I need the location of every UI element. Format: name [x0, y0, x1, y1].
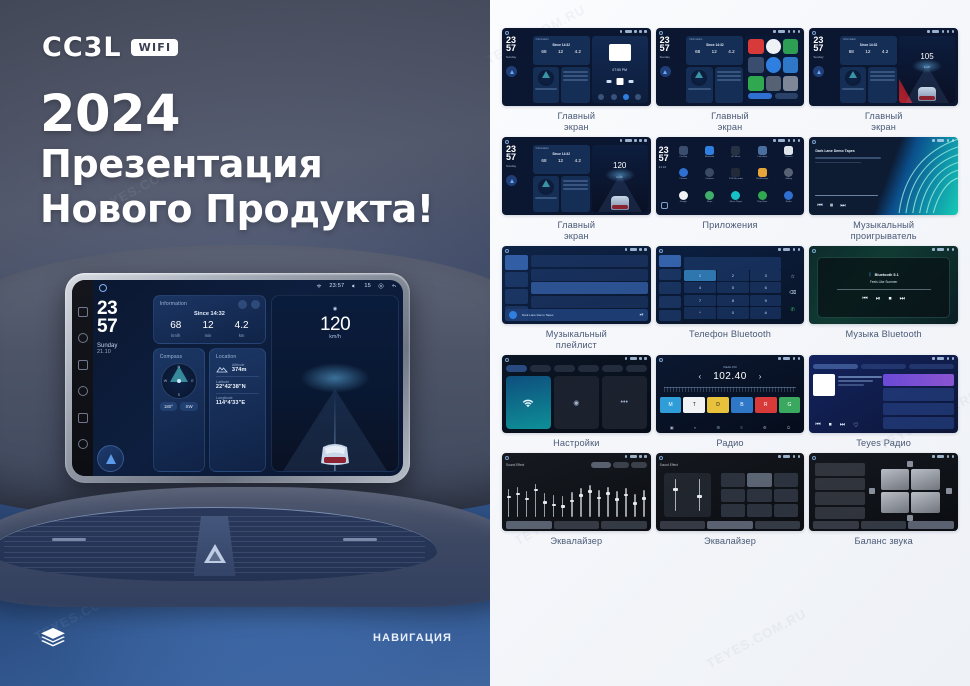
compass-card[interactable]: Compass N S E W [153, 348, 205, 472]
sidebar-item-contacts[interactable] [659, 269, 682, 281]
eq-slider[interactable] [562, 496, 563, 517]
phone-sidebar[interactable] [659, 255, 682, 321]
preset-button[interactable] [747, 489, 771, 502]
preset-controls[interactable] [591, 462, 647, 468]
wifi-card[interactable] [506, 376, 551, 429]
eq-slider[interactable] [607, 487, 608, 517]
sidebar-item-tracks[interactable] [505, 255, 528, 270]
tab-apps[interactable] [578, 365, 599, 372]
hardware-key-strip[interactable] [72, 280, 93, 476]
altitude-row: Altitude 374m [216, 363, 259, 373]
eq-slider[interactable] [643, 490, 644, 517]
equalizer-tabs[interactable] [813, 521, 954, 529]
eq-slider[interactable] [571, 492, 572, 517]
save-button[interactable] [631, 462, 647, 468]
backspace-icon[interactable]: ⌫ [789, 290, 796, 296]
thumbnail-teyes-radio[interactable]: ⏮ ⏹ ⏭ ♡ [809, 355, 958, 433]
list-item[interactable] [531, 282, 648, 294]
headline: 2024 Презентация Нового Продукта! [40, 88, 434, 231]
sidebar-item-keypad[interactable] [659, 255, 682, 267]
app-item[interactable]: Calculator [751, 146, 774, 166]
key-1[interactable]: 1 [684, 270, 715, 281]
list-item[interactable] [883, 417, 954, 429]
gallery-cell[interactable]: 23 57 21.10 CarPlay Bluetooth BT Music C… [656, 137, 805, 242]
key-0[interactable]: 0 [717, 307, 748, 318]
equalizer-sliders[interactable] [508, 469, 645, 517]
gallery-cell[interactable]: Sound Effect [656, 453, 805, 547]
gallery-cell[interactable]: 23 57 Sunday Information Since 14:32 68 [502, 137, 651, 242]
transport-controls[interactable]: ⏮ ⏹ ⏭ ♡ [813, 422, 881, 429]
eq-slider[interactable] [634, 494, 635, 517]
volume-icon[interactable] [351, 283, 357, 289]
speed-unit: km/h [616, 175, 623, 179]
sidebar-item-artists[interactable] [505, 272, 528, 287]
key-8[interactable]: 8 [717, 295, 748, 306]
location-card[interactable] [715, 67, 744, 103]
status-bar [620, 139, 647, 142]
thumbnail-equalizer-simple[interactable]: Sound Effect [656, 453, 805, 531]
app-item[interactable]: BT Music [724, 146, 747, 166]
status-bar [625, 357, 647, 360]
gallery-cell[interactable]: Radio FM ‹ 102.40 › M T D B R G [656, 355, 805, 449]
app-icon[interactable] [783, 76, 798, 91]
app-icon[interactable] [766, 39, 781, 54]
thumbnail-home-drive[interactable]: 23 57 Sunday Information Since 14:32 68 [809, 28, 958, 106]
stat-item: 12 min [202, 321, 213, 338]
list-item[interactable] [883, 403, 954, 415]
list-item[interactable] [531, 269, 648, 281]
information-card[interactable]: Information Since 14:32 68 12 4.2 [533, 145, 590, 174]
power-key-icon[interactable] [78, 333, 88, 343]
tab-display[interactable] [554, 365, 575, 372]
information-card[interactable]: Information Since 14:32 [153, 295, 266, 344]
information-actions [238, 300, 260, 309]
dock-button[interactable] [775, 93, 798, 99]
thumbnail-settings[interactable]: ◉ ••• [502, 355, 651, 433]
mini-player[interactable]: Dark Lane Demo Tapes ⏯ [505, 309, 648, 321]
home-key-icon[interactable] [78, 386, 88, 396]
tab-system[interactable] [602, 365, 623, 372]
tab-favorites[interactable] [909, 364, 954, 369]
preset-button[interactable] [774, 473, 798, 486]
widget-cards: Information Since 14:32 68 12 4.2 [533, 36, 590, 103]
preset-row[interactable]: M T D B R G [660, 397, 801, 413]
eq-slider[interactable] [589, 485, 590, 517]
app-item[interactable]: Gallery [777, 168, 800, 188]
drive-view-widget[interactable]: 105 km/h [899, 36, 955, 103]
expand-icon[interactable] [251, 300, 260, 309]
category-tabs[interactable] [813, 364, 954, 369]
stat-value: 12 [558, 49, 563, 54]
gallery-cell[interactable]: 23 57 Sunday Information Since 14:32 68 [656, 28, 805, 133]
sidebar-item-settings[interactable] [659, 310, 682, 322]
radio-toolbar[interactable]: ▣⌕ ☰≡ ⚙⏻ [660, 425, 801, 430]
reset-button[interactable] [613, 462, 629, 468]
eq-slider[interactable] [625, 488, 626, 518]
progress-bar[interactable] [837, 289, 931, 290]
preset-button[interactable] [747, 473, 771, 486]
thumbnail-sound-balance[interactable] [809, 453, 958, 531]
stop-icon[interactable]: ⏹ [889, 296, 892, 303]
next-icon[interactable]: ⏭ [900, 296, 905, 303]
tab-eq[interactable] [660, 521, 706, 529]
back-arrow-icon[interactable] [391, 283, 397, 289]
fader-panel[interactable] [664, 473, 712, 517]
information-card[interactable]: Information Since 14:32 68 12 4.2 [840, 36, 897, 65]
preset-row[interactable] [815, 463, 864, 476]
drive-view-widget[interactable]: ◉ 120 km/h [271, 295, 399, 472]
more-card[interactable]: ••• [602, 376, 647, 429]
station-list[interactable] [883, 374, 954, 429]
compass-dial: N S E W [161, 363, 197, 399]
app-item[interactable]: FileManager [751, 168, 774, 188]
sidebar-item-recents[interactable] [659, 296, 682, 308]
compass-card[interactable] [533, 176, 559, 212]
preset-button[interactable] [721, 504, 745, 517]
app-icon[interactable] [748, 39, 763, 54]
app-icon[interactable] [748, 76, 763, 91]
album-art [813, 374, 835, 396]
more-icon: ••• [621, 399, 628, 406]
call-actions[interactable]: ☆ ⌫ ✆ [784, 268, 801, 318]
vent-knob-left[interactable] [52, 538, 86, 541]
information-card[interactable]: Information Since 14:32 68 12 4.2 [533, 36, 590, 65]
app-item[interactable]: Camera [777, 146, 800, 166]
media-sources[interactable] [595, 94, 644, 100]
thumbnail-home-apps[interactable]: 23 57 Sunday Information Since 14:32 68 [656, 28, 805, 106]
trip-stats: 68 12 4.2 [689, 49, 740, 54]
gallery-cell[interactable]: 1 2 3 4 5 6 7 8 9 * 0 # [656, 246, 805, 351]
key-5[interactable]: 5 [717, 282, 748, 293]
tab-about[interactable] [626, 365, 647, 372]
compass-north: N [177, 365, 180, 369]
prev-station-icon[interactable]: ‹ [699, 372, 702, 381]
preset-row[interactable] [815, 478, 864, 491]
arrow-right-icon[interactable] [946, 488, 952, 494]
navigation-arrow-icon [106, 454, 116, 464]
progress-bar[interactable] [815, 195, 877, 196]
gallery-cell[interactable]: Dark Lane Demo Tapes ⏮ ⏸ ⏭ [809, 137, 958, 242]
clock-minutes: 57 [813, 44, 838, 52]
vent-knob-right[interactable] [343, 538, 377, 541]
thumbnail-home-media[interactable]: 23 57 Sunday Information Since 14:32 68 [502, 28, 651, 106]
search-icon[interactable]: ⌕ [694, 425, 696, 430]
tab-sound[interactable] [601, 521, 647, 529]
preset-button[interactable] [774, 504, 798, 517]
home-icon[interactable] [99, 284, 107, 292]
app-icon[interactable] [783, 57, 798, 72]
clock-weekday: Sunday [506, 165, 531, 169]
settings-tabs[interactable] [506, 365, 647, 372]
previous-icon[interactable] [606, 80, 611, 83]
thumbnail-apps[interactable]: 23 57 21.10 CarPlay Bluetooth BT Music C… [656, 137, 805, 215]
preset-button[interactable]: R [755, 397, 777, 413]
key-7[interactable]: 7 [684, 295, 715, 306]
thumbnail-music-player[interactable]: Dark Lane Demo Tapes ⏮ ⏸ ⏭ [809, 137, 958, 215]
navigation-button[interactable] [660, 66, 671, 77]
compass-south: S [178, 393, 180, 397]
home-widgets: 23 57 Sunday Information Since 14:32 68 [659, 36, 802, 103]
car-dashboard-illustration: 23:57 15 23 57 Sunday [0, 255, 490, 555]
back-key-icon[interactable] [78, 413, 88, 423]
refresh-icon[interactable] [238, 300, 247, 309]
list-item[interactable] [531, 296, 648, 308]
tab-eq[interactable] [813, 521, 859, 529]
eq-slider[interactable] [553, 495, 554, 517]
preset-button[interactable]: T [683, 397, 705, 413]
thumbnail-music-playlist[interactable]: Dark Lane Demo Tapes ⏯ [502, 246, 651, 324]
location-card[interactable] [561, 176, 590, 212]
next-icon[interactable] [628, 80, 633, 83]
thumbnail-equalizer-bars[interactable]: Sound Effect [502, 453, 651, 531]
compass-card[interactable] [686, 67, 712, 103]
clock-minutes: 57 [659, 154, 669, 162]
longitude-value: 114°4'33"E [216, 400, 259, 406]
favorite-icon[interactable]: ☆ [791, 274, 795, 280]
app-icon[interactable] [766, 57, 781, 72]
app-item[interactable]: Google [672, 191, 695, 211]
tuner-row[interactable]: ‹ 102.40 › [656, 371, 805, 382]
navigation-button[interactable] [813, 66, 824, 77]
tab-sound[interactable] [755, 521, 801, 529]
app-icon[interactable] [766, 76, 781, 91]
tab-eq[interactable] [506, 521, 552, 529]
app-icon[interactable] [748, 57, 763, 72]
latitude-value: 22°42'38"N [216, 384, 259, 390]
next-icon[interactable]: ⏭ [840, 422, 845, 429]
tab-sound[interactable] [530, 365, 551, 372]
key-2[interactable]: 2 [717, 270, 748, 281]
preset-button[interactable]: B [731, 397, 753, 413]
power-icon[interactable]: ⏻ [787, 425, 790, 430]
sidebar-item-albums[interactable] [505, 289, 528, 304]
preset-button[interactable] [774, 489, 798, 502]
dock-button[interactable] [748, 93, 771, 99]
widget-cards: Information Since 14:32 68 12 4.2 [840, 36, 897, 103]
seat-rear-left[interactable] [881, 492, 910, 513]
home-widgets: 23 57 Sunday Information Since 14:32 68 [505, 145, 648, 212]
trip-stats: 68 km/h 12 min [160, 321, 259, 338]
back-arrow-icon[interactable] [661, 202, 668, 209]
tab-wifi[interactable] [506, 365, 527, 372]
arrow-up-icon[interactable] [907, 461, 913, 467]
gallery-cell[interactable]: Sound Effect [502, 453, 651, 547]
gallery-cell[interactable]: Dark Lane Demo Tapes ⏯ Музыкальный плейл… [502, 246, 651, 351]
band-button[interactable]: ▣ [670, 425, 674, 430]
arrow-left-icon[interactable] [869, 488, 875, 494]
key-6[interactable]: 6 [750, 282, 781, 293]
preset-grid[interactable] [721, 473, 798, 517]
preset-button[interactable] [747, 504, 771, 517]
list-icon[interactable]: ☰ [716, 425, 720, 430]
seat-front-right[interactable] [911, 469, 940, 490]
navigation-button[interactable] [97, 445, 124, 472]
bt-title: Bluetooth 5.1 [875, 273, 899, 277]
information-card[interactable]: Information Since 14:32 68 12 4.2 [686, 36, 743, 65]
eq-slider[interactable] [616, 491, 617, 517]
stat-value: 4.2 [235, 321, 249, 331]
bass-slider[interactable] [675, 479, 677, 511]
play-pause-icon[interactable]: ⏯ [876, 296, 881, 303]
next-station-icon[interactable]: › [759, 372, 762, 381]
volume-key-icon[interactable] [78, 360, 88, 370]
thumbnail-caption: Настройки [553, 438, 599, 449]
thumbnail-radio[interactable]: Radio FM ‹ 102.40 › M T D B R G [656, 355, 805, 433]
since-label: Since 14:32 [536, 152, 587, 156]
favorite-icon[interactable]: ♡ [853, 422, 858, 429]
drive-view-widget[interactable]: 120 km/h [592, 145, 648, 212]
tab-balance[interactable] [707, 521, 753, 529]
app-item[interactable]: Bluetooth [698, 146, 721, 166]
key-9[interactable]: 9 [750, 295, 781, 306]
app-shortcuts-widget[interactable] [745, 36, 801, 103]
eq-slider[interactable] [598, 490, 599, 518]
key-hash[interactable]: # [750, 307, 781, 318]
thumbnail-caption: Эквалайзер [550, 536, 602, 547]
gallery-cell[interactable]: 23 57 Sunday Information Since 14:32 68 [502, 28, 651, 133]
visualizer-icon [890, 137, 958, 215]
tuner-scale[interactable] [664, 387, 797, 392]
since-label: Since 14:32 [689, 43, 740, 47]
location-card[interactable] [561, 67, 590, 103]
app-icon[interactable] [783, 39, 798, 54]
list-item[interactable] [531, 255, 648, 267]
preset-button[interactable]: M [660, 397, 682, 413]
key-3[interactable]: 3 [750, 270, 781, 281]
settings-cards[interactable]: ◉ ••• [506, 376, 647, 429]
home-icon [505, 358, 509, 362]
app-item[interactable]: Chrome [672, 168, 695, 188]
compass-card[interactable] [840, 67, 866, 103]
preset-button[interactable] [721, 473, 745, 486]
list-item[interactable] [883, 388, 954, 400]
previous-icon[interactable]: ⏮ [815, 422, 820, 429]
eq-icon[interactable]: ≡ [740, 425, 742, 430]
settings-icon[interactable]: ⚙ [763, 425, 767, 430]
tab-countries[interactable] [861, 364, 906, 369]
home-icon [505, 249, 509, 253]
preset-button[interactable]: D [707, 397, 729, 413]
key-4[interactable]: 4 [684, 282, 715, 293]
eq-slider[interactable] [526, 491, 527, 518]
seat-rear-right[interactable] [911, 492, 940, 513]
key-star[interactable]: * [684, 307, 715, 318]
clock-weekday: Sunday [506, 56, 531, 60]
app-item[interactable]: Radio [777, 191, 800, 211]
location-card[interactable]: Location Altitude 374m [209, 348, 266, 472]
thumbnail-home-speed[interactable]: 23 57 Sunday Information Since 14:32 68 [502, 137, 651, 215]
preset-button[interactable] [721, 489, 745, 502]
list-item[interactable] [883, 374, 954, 386]
stat-value: 4.2 [575, 158, 581, 163]
stat-value: 4.2 [575, 49, 581, 54]
keypad[interactable]: 1 2 3 4 5 6 7 8 9 * 0 # [684, 270, 781, 319]
product-logo: CC3L WIFI [42, 32, 178, 63]
gallery-cell[interactable]: ⏮ ⏹ ⏭ ♡ Teyes Радио [809, 355, 958, 449]
stat-value: 12 [865, 49, 870, 54]
preset-row[interactable] [815, 492, 864, 505]
status-volume: 15 [364, 283, 371, 289]
gallery-cell[interactable]: 23 57 Sunday Information Since 14:32 68 [809, 28, 958, 133]
preset-selector[interactable] [591, 462, 611, 468]
hotspot-card[interactable]: ◉ [554, 376, 599, 429]
next-icon[interactable]: ⏭ [840, 203, 845, 210]
thumbnail-bt-phone[interactable]: 1 2 3 4 5 6 7 8 9 * 0 # [656, 246, 805, 324]
tab-genres[interactable] [813, 364, 858, 369]
equalizer-tabs[interactable] [506, 521, 647, 529]
wifi-icon [316, 283, 322, 289]
eq-slider[interactable] [535, 484, 536, 517]
eq-slider[interactable] [517, 487, 518, 517]
seat-grid[interactable] [869, 463, 952, 519]
app-item[interactable]: Maps [698, 191, 721, 211]
call-icon[interactable]: ✆ [791, 307, 795, 313]
head-unit-screen: 23:57 15 23 57 Sunday [72, 280, 403, 476]
dialed-number-field[interactable] [684, 257, 781, 270]
eq-slider[interactable] [580, 488, 581, 517]
sidebar-item-search[interactable] [659, 282, 682, 294]
app-item[interactable]: Music Player [724, 191, 747, 211]
eq-slider[interactable] [508, 489, 509, 517]
gallery-cell[interactable]: Баланс звука [809, 453, 958, 547]
preset-row[interactable] [815, 507, 864, 520]
app-item[interactable]: CarPlay [672, 146, 695, 166]
equalizer-tabs[interactable] [660, 521, 801, 529]
status-bar [778, 455, 800, 458]
stop-icon[interactable]: ⏹ [829, 422, 832, 429]
pause-icon[interactable]: ⏸ [830, 202, 834, 210]
tab-balance[interactable] [861, 521, 907, 529]
play-pause-icon[interactable]: ⏯ [640, 312, 644, 318]
mic-key-icon[interactable] [78, 439, 88, 449]
menu-key-icon[interactable] [78, 307, 88, 317]
headline-line1: Презентация [40, 142, 434, 186]
app-item[interactable]: Contacts [698, 168, 721, 188]
speed-unit: km/h [329, 334, 341, 340]
app-label: Camera [785, 156, 793, 158]
tab-balance[interactable] [554, 521, 600, 529]
transport-controls[interactable]: ⏮ ⏯ ⏹ ⏭ [862, 296, 905, 303]
treble-slider[interactable] [699, 479, 701, 511]
status-bar [932, 357, 954, 360]
media-transport[interactable] [606, 78, 633, 85]
gallery-cell[interactable]: ◉ ••• Настройки [502, 355, 651, 449]
balance-panel [815, 463, 952, 519]
app-item[interactable]: Play Store [751, 191, 774, 211]
navigation-button[interactable] [506, 175, 517, 186]
previous-icon[interactable]: ⏮ [817, 203, 822, 210]
previous-icon[interactable]: ⏮ [862, 296, 867, 303]
app-label: Calculator [757, 156, 767, 158]
location-card[interactable] [868, 67, 897, 103]
seat-front-left[interactable] [881, 469, 910, 490]
play-icon[interactable] [616, 78, 623, 85]
media-widget[interactable]: 07:50 PM [592, 36, 648, 103]
transport-controls[interactable]: ⏮ ⏸ ⏭ [817, 202, 845, 210]
compass-card[interactable] [533, 67, 559, 103]
navigation-button[interactable] [506, 66, 517, 77]
thumbnail-bt-music[interactable]: ᛒ Bluetooth 5.1 Feels Like Summer ⏮ ⏯ ⏹ … [809, 246, 958, 324]
app-item[interactable]: DVR Recorder [724, 168, 747, 188]
gallery-cell[interactable]: ᛒ Bluetooth 5.1 Feels Like Summer ⏮ ⏯ ⏹ … [809, 246, 958, 351]
eq-slider[interactable] [544, 493, 545, 517]
mountain-icon [216, 364, 228, 373]
camera-icon[interactable] [378, 283, 384, 289]
preset-button[interactable]: G [779, 397, 801, 413]
widget-cards: Information Since 14:32 68 12 4.2 [533, 145, 590, 212]
tab-sound[interactable] [908, 521, 954, 529]
balance-presets[interactable] [815, 463, 864, 519]
